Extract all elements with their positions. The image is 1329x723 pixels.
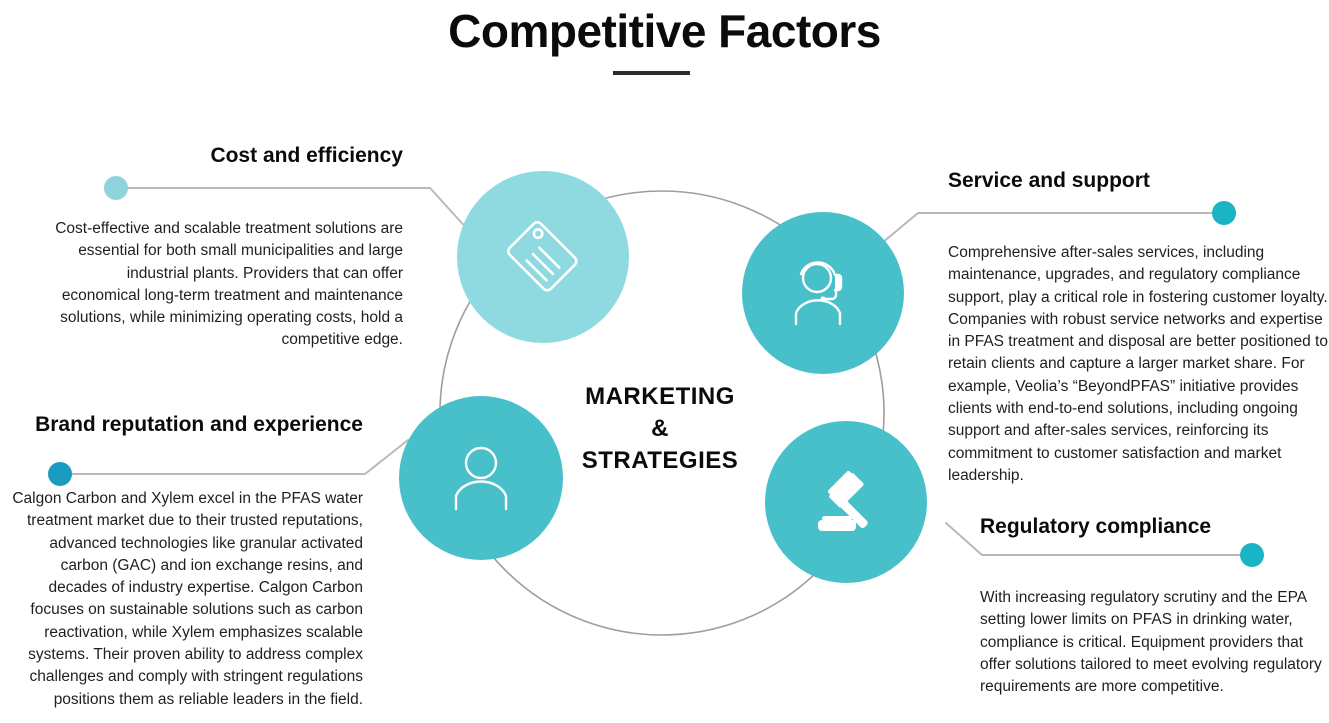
block-cost-body: Cost-effective and scalable treatment so… xyxy=(48,218,403,352)
block-regulatory-title: Regulatory compliance xyxy=(980,514,1329,540)
center-label-line-2: & xyxy=(560,413,760,445)
center-label-line-1: MARKETING xyxy=(560,381,760,413)
block-cost-title: Cost and efficiency xyxy=(48,143,403,169)
factor-circle-regulatory[interactable] xyxy=(765,421,927,583)
block-regulatory: Regulatory compliance With increasing re… xyxy=(980,514,1329,698)
headset-support-icon xyxy=(779,249,867,337)
center-label: MARKETING & STRATEGIES xyxy=(560,381,760,477)
block-brand-body: Calgon Carbon and Xylem excel in the PFA… xyxy=(8,488,363,711)
block-brand: Brand reputation and experience Calgon C… xyxy=(8,412,363,711)
block-service-title: Service and support xyxy=(948,168,1329,194)
block-service-body: Comprehensive after-sales services, incl… xyxy=(948,242,1329,487)
price-tag-icon xyxy=(500,214,586,300)
infographic-canvas: Competitive Factors MARKETING & STRATEGI… xyxy=(0,0,1329,723)
block-cost: Cost and efficiency Cost-effective and s… xyxy=(48,143,403,352)
block-regulatory-body: With increasing regulatory scrutiny and … xyxy=(980,587,1329,698)
factor-circle-brand[interactable] xyxy=(399,396,563,560)
factor-circle-cost[interactable] xyxy=(457,171,629,343)
gavel-icon xyxy=(802,458,890,546)
center-label-line-3: STRATEGIES xyxy=(560,445,760,477)
person-user-icon xyxy=(438,435,524,521)
block-service: Service and support Comprehensive after-… xyxy=(948,168,1329,487)
block-brand-title: Brand reputation and experience xyxy=(8,412,363,438)
factor-circle-service[interactable] xyxy=(742,212,904,374)
